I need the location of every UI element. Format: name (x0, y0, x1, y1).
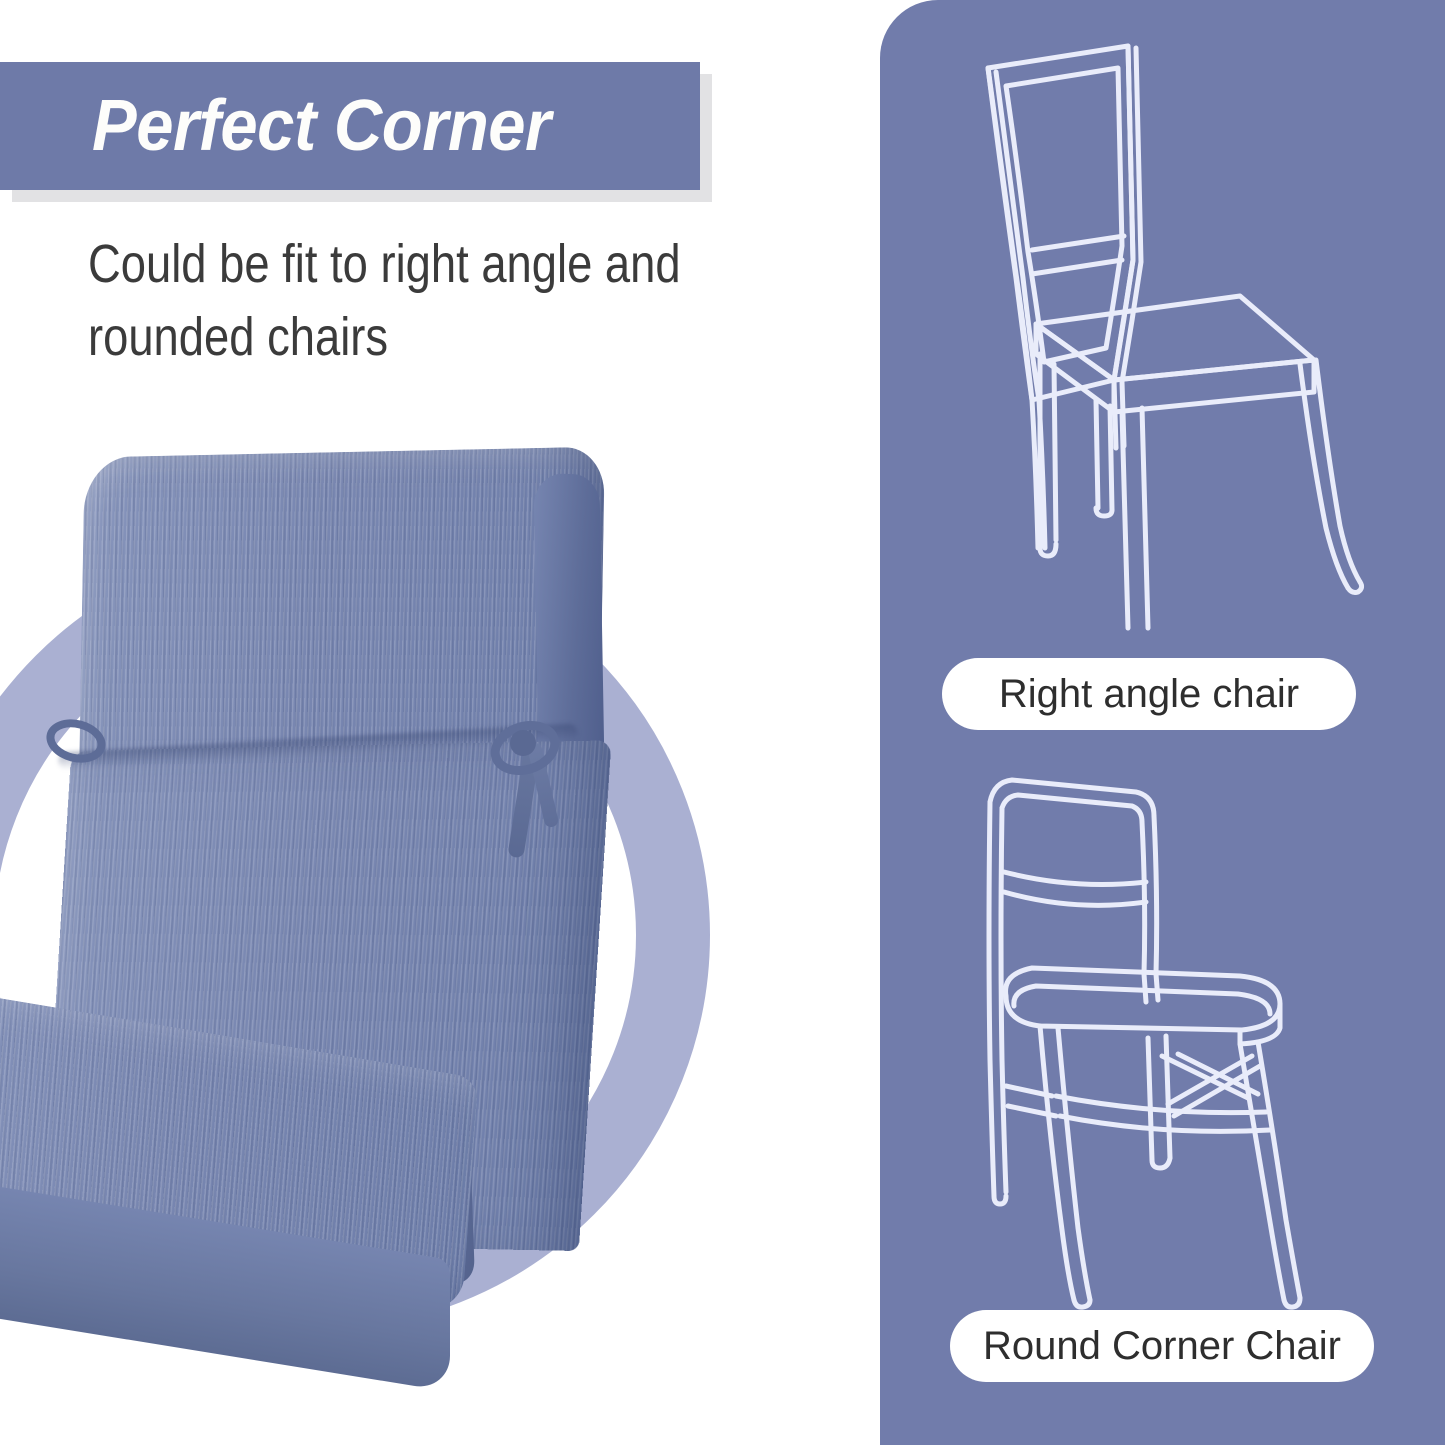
right-angle-chair-label: Right angle chair (942, 658, 1356, 730)
round-corner-chair-icon (940, 760, 1380, 1320)
left-content-panel: Perfect Corner Could be fit to right ang… (0, 0, 880, 1445)
tie-strap-knot (510, 730, 536, 756)
round-corner-chair-label: Round Corner Chair (950, 1310, 1374, 1382)
product-feature-image: Perfect Corner Could be fit to right ang… (0, 0, 1445, 1445)
right-angle-chair-icon (928, 28, 1378, 638)
title-banner: Perfect Corner (0, 62, 700, 190)
subtitle-text: Could be fit to right angle and rounded … (88, 228, 726, 375)
page-title: Perfect Corner (92, 85, 551, 167)
product-photo-cushion (0, 430, 670, 1380)
chair-types-panel: Right angle chair (880, 0, 1445, 1445)
